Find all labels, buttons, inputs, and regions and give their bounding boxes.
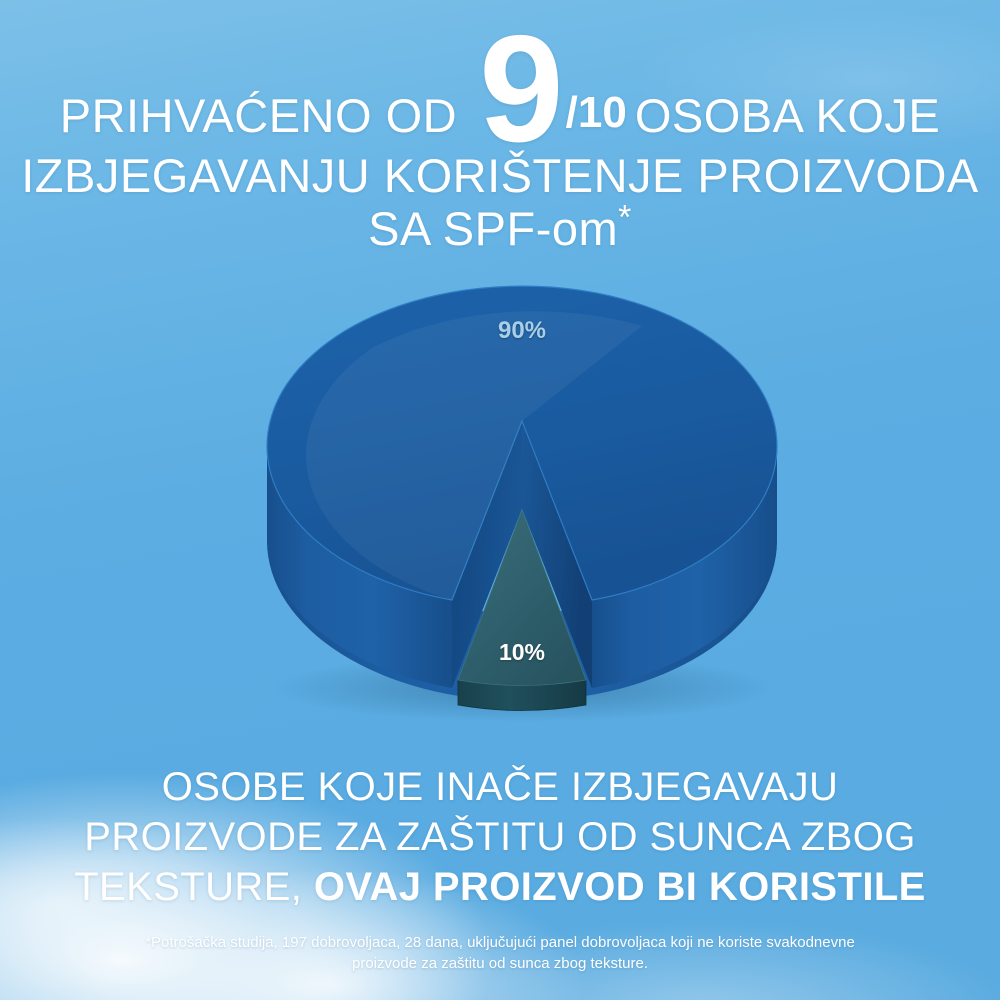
headline-suffix: OSOBA KOJE xyxy=(635,92,940,146)
subcopy-line-3: TEKSTURE, OVAJ PROIZVOD BI KORISTILE xyxy=(0,862,1000,912)
footnote-line-2: proizvode za zaštitu od sunca zbog tekst… xyxy=(0,953,1000,974)
headline-line-3-text: SA SPF-om xyxy=(368,202,618,255)
footnote-block: *Potrošačka studija, 197 dobrovoljaca, 2… xyxy=(0,932,1000,974)
footnote-line-1: *Potrošačka studija, 197 dobrovoljaca, 2… xyxy=(0,932,1000,953)
pie-label-10: 10% xyxy=(499,639,545,665)
headline-line-3: SA SPF-om* xyxy=(0,205,1000,252)
headline-line-1: PRIHVAĆENO OD 9 /10 OSOBA KOJE xyxy=(0,18,1000,146)
pie-chart: 90% 10% xyxy=(262,278,782,718)
pie-label-90: 90% xyxy=(498,317,546,344)
pie-chart-svg: 90% 10% xyxy=(262,278,782,718)
headline-denominator: /10 xyxy=(566,88,627,146)
subcopy-line-2: PROIZVODE ZA ZAŠTITU OD SUNCA ZBOG xyxy=(0,812,1000,862)
subcopy-line-1: OSOBE KOJE INAČE IZBJEGAVAJU xyxy=(0,762,1000,812)
headline-prefix: PRIHVAĆENO OD xyxy=(60,92,457,146)
headline-big-number: 9 xyxy=(479,30,560,148)
headline-block: PRIHVAĆENO OD 9 /10 OSOBA KOJE IZBJEGAVA… xyxy=(0,18,1000,252)
subcopy-line-3-bold: OVAJ PROIZVOD BI KORISTILE xyxy=(314,865,926,909)
subcopy-block: OSOBE KOJE INAČE IZBJEGAVAJU PROIZVODE Z… xyxy=(0,762,1000,912)
subcopy-line-3-normal: TEKSTURE, xyxy=(74,865,302,909)
headline-asterisk: * xyxy=(618,198,632,236)
